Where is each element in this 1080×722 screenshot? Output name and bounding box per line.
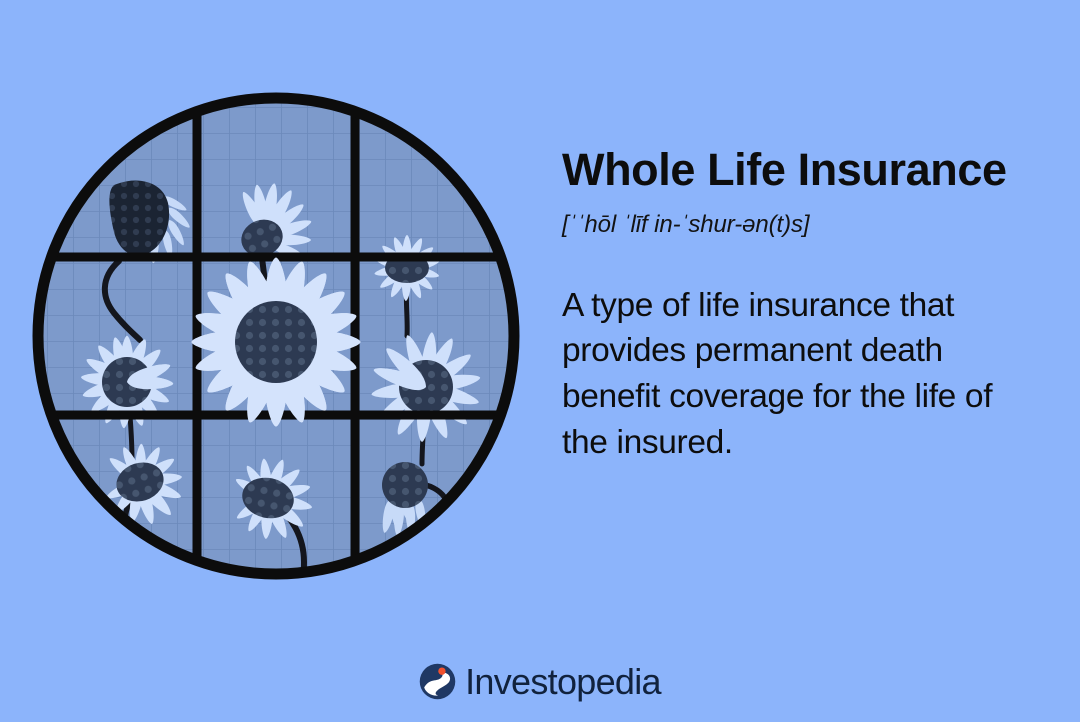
definition-card: Whole Life Insurance [ˈˈhōl ˈlīf in-ˈshu… bbox=[0, 0, 1080, 722]
investopedia-i-swoosh-icon bbox=[419, 663, 456, 700]
definition-text-block: Whole Life Insurance [ˈˈhōl ˈlīf in-ˈshu… bbox=[562, 146, 1062, 466]
pronunciation: [ˈˈhōl ˈlīf in-ˈshur-ən(t)s] bbox=[562, 211, 1062, 239]
investopedia-logo: Investopedia bbox=[0, 663, 1080, 700]
circle-face bbox=[22, 82, 530, 590]
page-title: Whole Life Insurance bbox=[562, 146, 1062, 194]
illustration-daisies-grid-circle bbox=[22, 82, 530, 590]
investopedia-wordmark: Investopedia bbox=[465, 664, 661, 700]
definition-text: A type of life insurance that provides p… bbox=[562, 283, 1042, 466]
